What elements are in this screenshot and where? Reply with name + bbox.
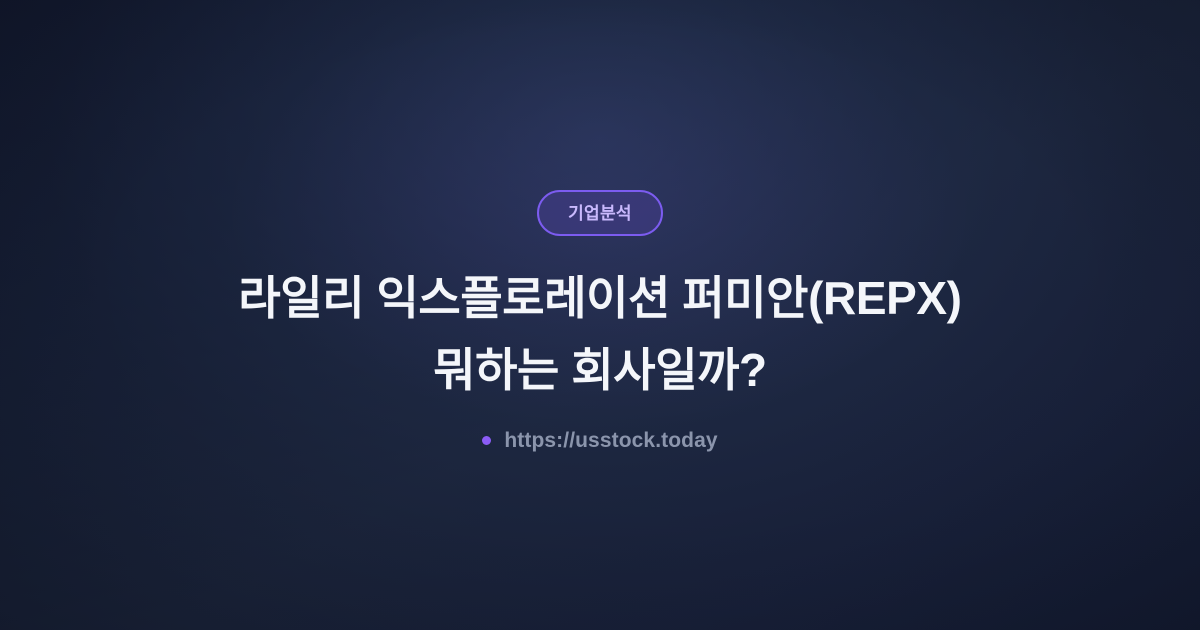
bullet-dot-icon	[482, 436, 491, 445]
site-url-text: https://usstock.today	[504, 430, 717, 451]
category-badge: 기업분석	[537, 190, 663, 236]
category-badge-label: 기업분석	[568, 205, 632, 222]
page-title: 라일리 익스플로레이션 퍼미안(REPX) 뭐하는 회사일까?	[198, 236, 1001, 406]
card-content: 기업분석 라일리 익스플로레이션 퍼미안(REPX) 뭐하는 회사일까? htt…	[0, 0, 1200, 630]
page-title-line-1: 라일리 익스플로레이션 퍼미안(REPX)	[238, 262, 961, 334]
page-title-line-2: 뭐하는 회사일까?	[238, 334, 961, 406]
og-share-card: 기업분석 라일리 익스플로레이션 퍼미안(REPX) 뭐하는 회사일까? htt…	[0, 0, 1200, 630]
site-url-row: https://usstock.today	[482, 430, 717, 451]
